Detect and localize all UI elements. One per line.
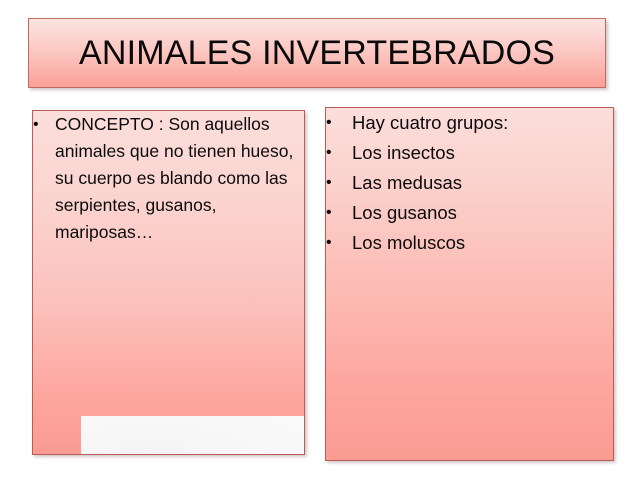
list-item: • Hay cuatro grupos: <box>326 108 613 138</box>
right-content-panel: • Hay cuatro grupos: • Los insectos • La… <box>325 107 614 461</box>
ant-photo-background <box>81 416 305 455</box>
list-item: • Los insectos <box>326 138 613 168</box>
group-heading-text: Hay cuatro grupos: <box>352 112 508 133</box>
slide-canvas: ANIMALES INVERTEBRADOS • CONCEPTO : Son … <box>0 0 638 479</box>
bullet-icon: • <box>326 228 340 258</box>
ant-photo <box>81 416 305 455</box>
bullet-icon: • <box>33 111 47 138</box>
bullet-icon: • <box>326 168 340 198</box>
bullet-icon: • <box>326 108 340 138</box>
list-item: • CONCEPTO : Son aquellos animales que n… <box>33 111 304 273</box>
list-item: • Las medusas <box>326 168 613 198</box>
bullet-icon: • <box>326 138 340 168</box>
left-bullet-list: • CONCEPTO : Son aquellos animales que n… <box>33 111 304 273</box>
list-item: • Los gusanos <box>326 198 613 228</box>
group-item-moluscos: Los moluscos <box>352 232 465 253</box>
concept-text: CONCEPTO : Son aquellos animales que no … <box>55 114 304 269</box>
bullet-icon: • <box>326 198 340 228</box>
page-title: ANIMALES INVERTEBRADOS <box>79 34 555 73</box>
list-item: • Los moluscos <box>326 228 613 258</box>
group-item-insectos: Los insectos <box>352 142 455 163</box>
right-bullet-list: • Hay cuatro grupos: • Los insectos • La… <box>326 108 613 258</box>
left-content-panel: • CONCEPTO : Son aquellos animales que n… <box>32 110 305 455</box>
group-item-gusanos: Los gusanos <box>352 202 457 223</box>
slide-title-box: ANIMALES INVERTEBRADOS <box>28 18 606 88</box>
group-item-medusas: Las medusas <box>352 172 462 193</box>
